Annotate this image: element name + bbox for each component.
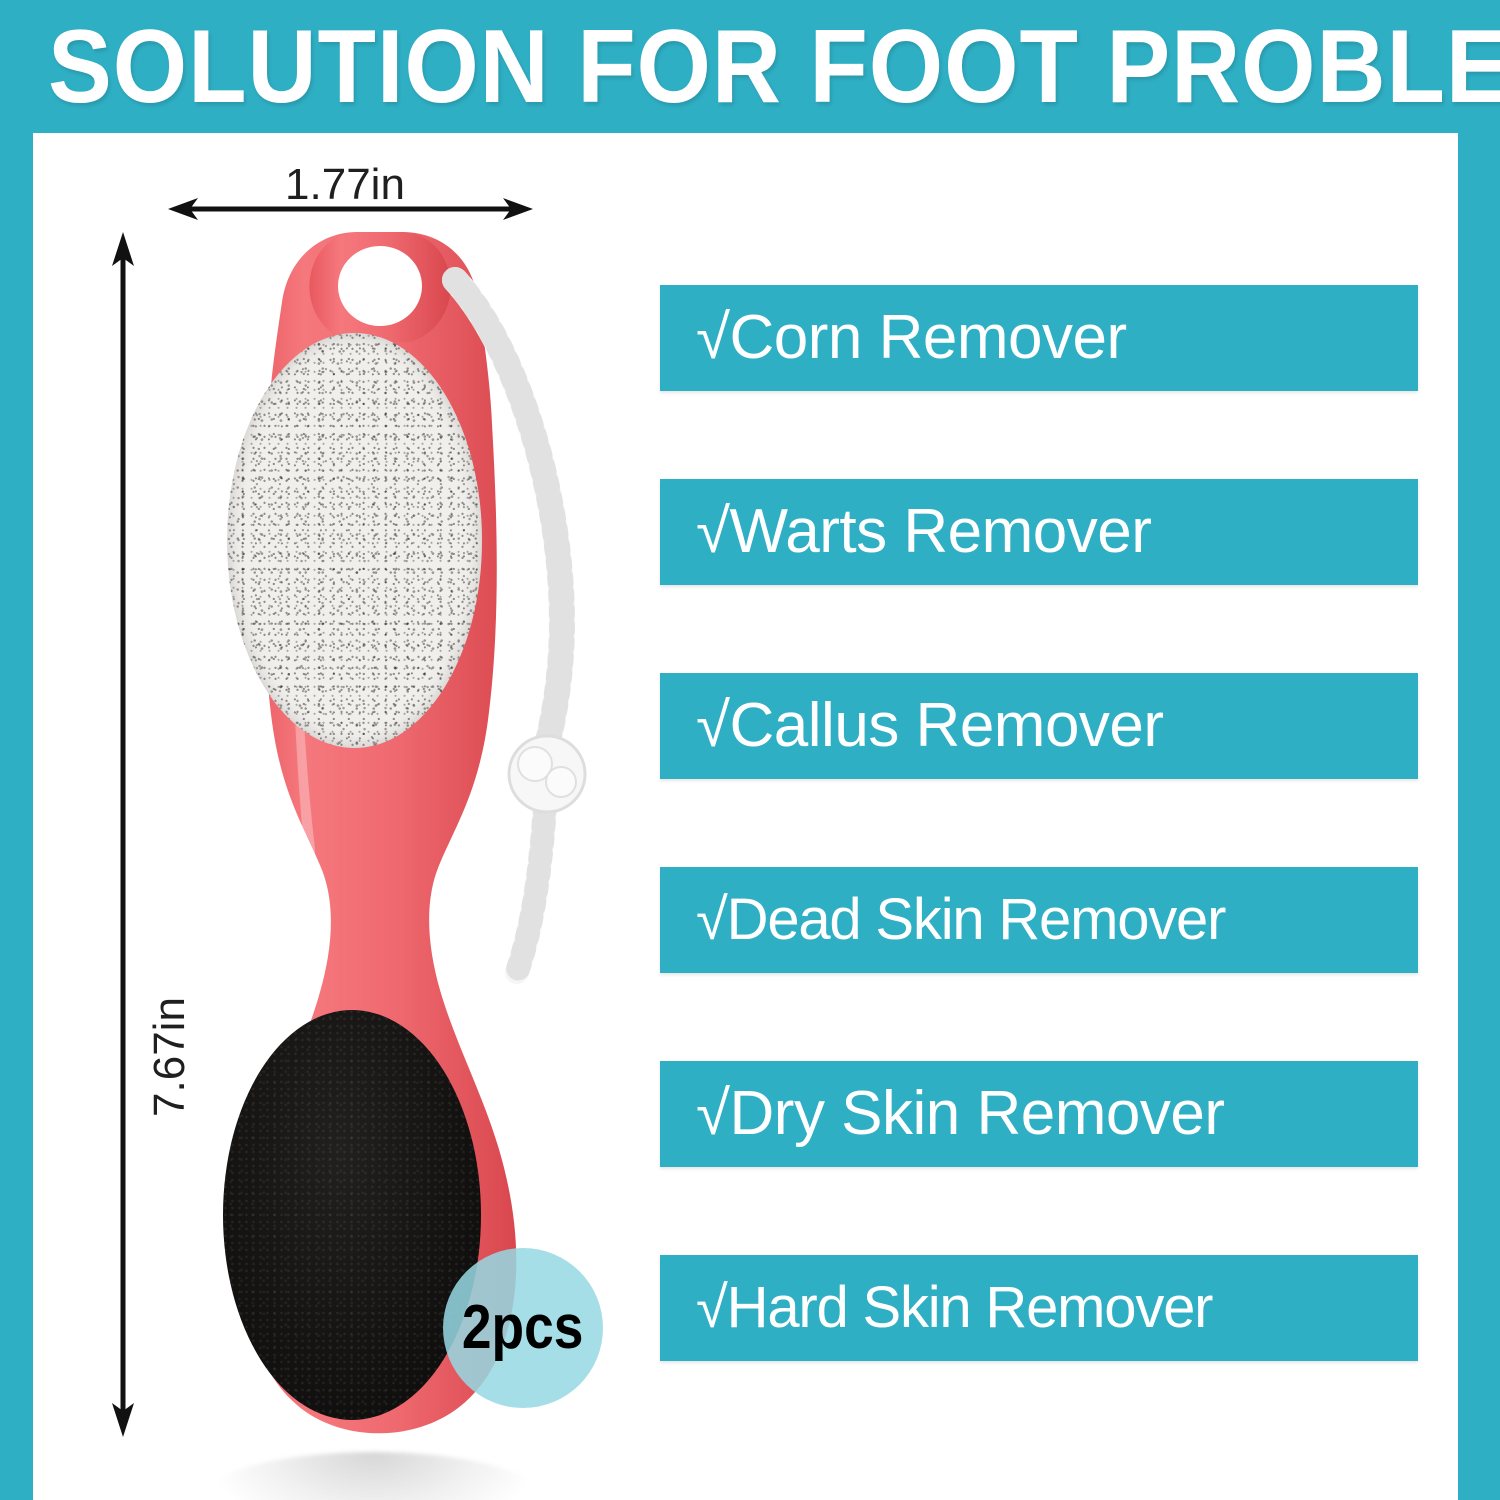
- feature-label-warts-remover: √Warts Remover: [660, 499, 1151, 565]
- feature-label-dry-skin-remover: √Dry Skin Remover: [660, 1081, 1225, 1147]
- width-dimension-arrow-icon: [168, 196, 533, 222]
- feature-label-dead-skin-remover: √Dead Skin Remover: [660, 887, 1225, 953]
- height-dimension-arrow-icon: 7.67in: [108, 232, 138, 1437]
- product-reflection: [208, 1452, 538, 1500]
- quantity-badge: 2pcs: [443, 1248, 603, 1408]
- feature-label-callus-remover: √Callus Remover: [660, 693, 1164, 759]
- feature-label-hard-skin-remover: √Hard Skin Remover: [660, 1275, 1212, 1341]
- feature-bar-dry-skin-remover: √Dry Skin Remover: [660, 1061, 1418, 1167]
- frame-border-right: [1458, 133, 1500, 1500]
- emery-pad-surface: [223, 1010, 481, 1420]
- feature-bar-callus-remover: √Callus Remover: [660, 673, 1418, 779]
- quantity-badge-label: 2pcs: [462, 1297, 584, 1359]
- feature-list: √Corn Remover √Warts Remover √Callus Rem…: [660, 285, 1420, 1361]
- feature-bar-warts-remover: √Warts Remover: [660, 479, 1418, 585]
- hanging-rope: [425, 246, 615, 1006]
- frame-border-left: [0, 133, 33, 1500]
- product-infographic: SOLUTION FOR FOOT PROBLEM 1.77in 7.67in: [0, 0, 1500, 1500]
- feature-bar-dead-skin-remover: √Dead Skin Remover: [660, 867, 1418, 973]
- page-title: SOLUTION FOR FOOT PROBLEM: [48, 8, 1336, 126]
- feature-label-corn-remover: √Corn Remover: [660, 305, 1127, 371]
- feature-bar-hard-skin-remover: √Hard Skin Remover: [660, 1255, 1418, 1361]
- feature-bar-corn-remover: √Corn Remover: [660, 285, 1418, 391]
